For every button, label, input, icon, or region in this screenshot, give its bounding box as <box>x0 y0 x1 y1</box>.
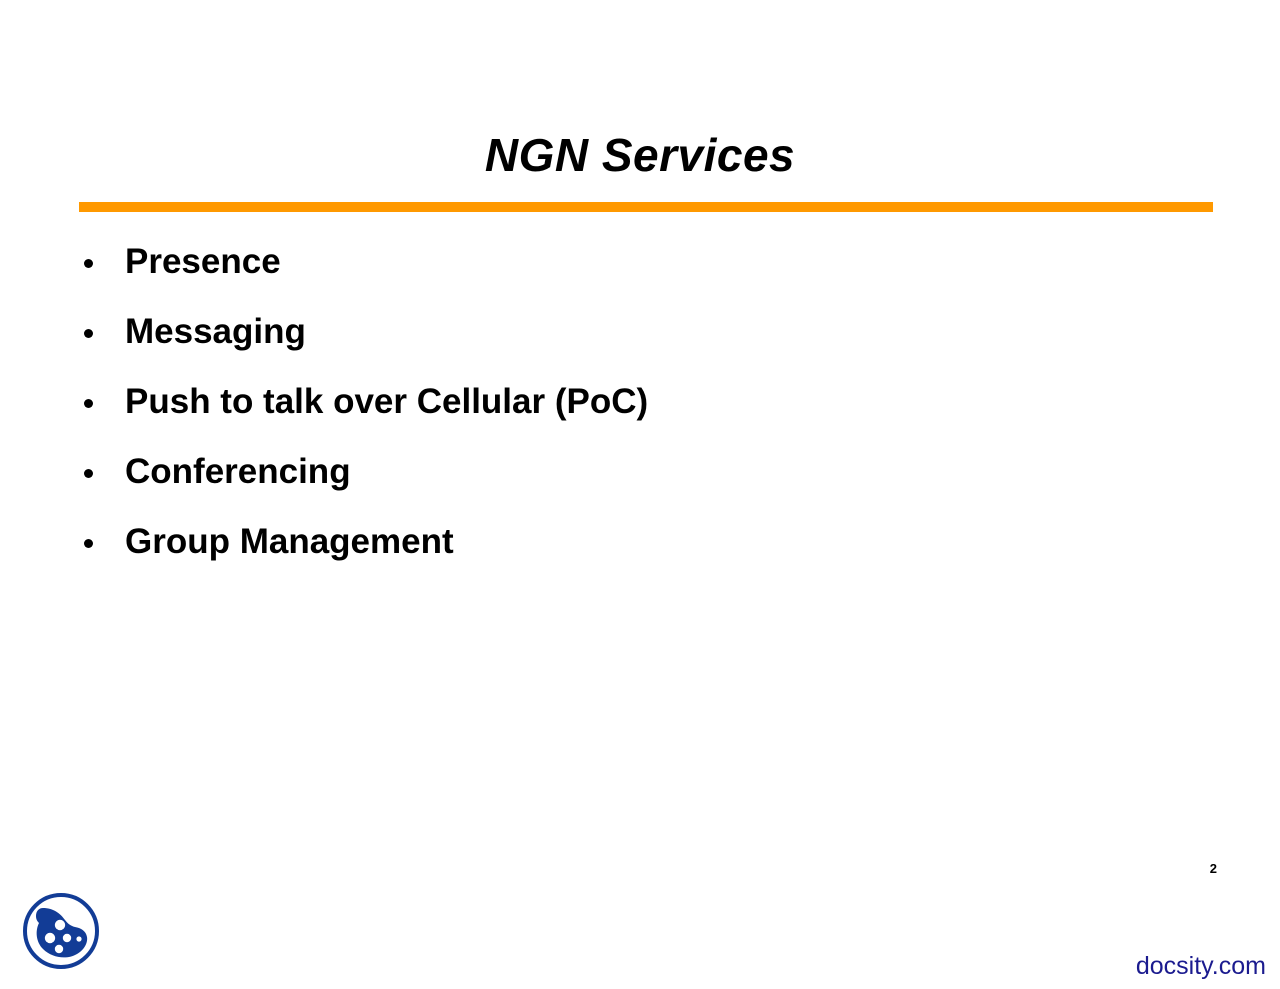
list-item-label: Push to talk over Cellular (PoC) <box>125 376 1208 428</box>
list-item-label: Group Management <box>125 516 1208 568</box>
bullet-list: Presence Messaging Push to talk over Cel… <box>78 236 1208 586</box>
list-item: Group Management <box>78 516 1208 586</box>
list-item-label: Messaging <box>125 306 1208 358</box>
list-item-label: Conferencing <box>125 446 1208 498</box>
bullet-dot-icon <box>84 539 93 548</box>
list-item: Conferencing <box>78 446 1208 516</box>
list-item-label: Presence <box>125 236 1208 288</box>
bullet-dot-icon <box>84 259 93 268</box>
bullet-dot-icon <box>84 469 93 478</box>
list-item: Push to talk over Cellular (PoC) <box>78 376 1208 446</box>
page-number: 2 <box>1210 861 1217 876</box>
list-item: Presence <box>78 236 1208 306</box>
bullet-dot-icon <box>84 399 93 408</box>
docsity-cookie-logo-icon <box>19 891 103 971</box>
title-accent-divider <box>79 202 1213 212</box>
list-item: Messaging <box>78 306 1208 376</box>
bullet-dot-icon <box>84 329 93 338</box>
footer-brand-link[interactable]: docsity.com <box>1136 952 1266 981</box>
page-title: NGN Services <box>0 131 1280 179</box>
presentation-slide: NGN Services Presence Messaging Push to … <box>0 0 1280 989</box>
